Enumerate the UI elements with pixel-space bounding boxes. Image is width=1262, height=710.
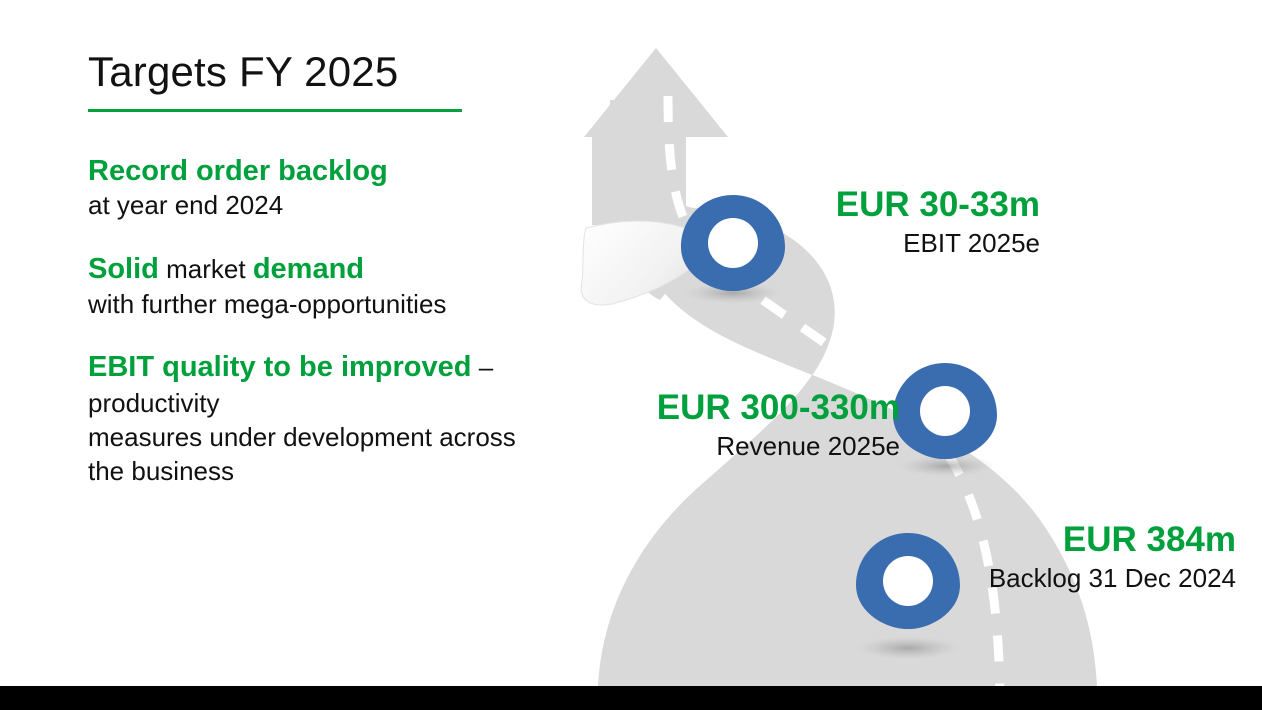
- bullet-ebit-quality: EBIT quality to be improved – productivi…: [88, 350, 558, 488]
- bullet-2-headline-part-1: Solid: [88, 253, 159, 285]
- bullet-1-subtext: at year end 2024: [88, 189, 558, 223]
- pin-shadow-backlog: [854, 636, 962, 660]
- callout-revenue: EUR 300-330m Revenue 2025e: [520, 388, 900, 462]
- callout-backlog-amount: EUR 384m: [700, 520, 1236, 559]
- callout-ebit: EUR 30-33m EBIT 2025e: [700, 185, 1040, 259]
- bullet-2-headline: Solid market demand: [88, 252, 558, 287]
- bullet-record-order-backlog: Record order backlog at year end 2024: [88, 154, 558, 223]
- bullet-2-subtext: with further mega-opportunities: [88, 288, 558, 322]
- callout-ebit-amount: EUR 30-33m: [700, 185, 1040, 224]
- bullet-2-headline-middle: market: [159, 254, 253, 284]
- bullet-3-headline-green: EBIT quality to be improved: [88, 351, 472, 383]
- callout-backlog-caption: Backlog 31 Dec 2024: [700, 563, 1236, 594]
- bullet-1-headline: Record order backlog: [88, 154, 558, 189]
- callout-revenue-amount: EUR 300-330m: [520, 388, 900, 427]
- slide-canvas: Targets FY 2025 Record order backlog at …: [0, 0, 1262, 710]
- callout-revenue-caption: Revenue 2025e: [520, 431, 900, 462]
- bullet-3-headline: EBIT quality to be improved – productivi…: [88, 350, 558, 421]
- title-underline-rule: [88, 109, 462, 112]
- bullet-3-subtext: measures under development across the bu…: [88, 421, 558, 489]
- left-text-column: Targets FY 2025 Record order backlog at …: [88, 50, 558, 489]
- bullet-solid-market-demand: Solid market demand with further mega-op…: [88, 252, 558, 321]
- callout-backlog: EUR 384m Backlog 31 Dec 2024: [700, 520, 1236, 594]
- bottom-band: [0, 686, 1262, 710]
- map-pin-revenue[interactable]: [893, 363, 997, 459]
- callout-ebit-caption: EBIT 2025e: [700, 228, 1040, 259]
- page-title: Targets FY 2025: [88, 50, 558, 94]
- bullet-2-headline-part-2: demand: [253, 253, 364, 285]
